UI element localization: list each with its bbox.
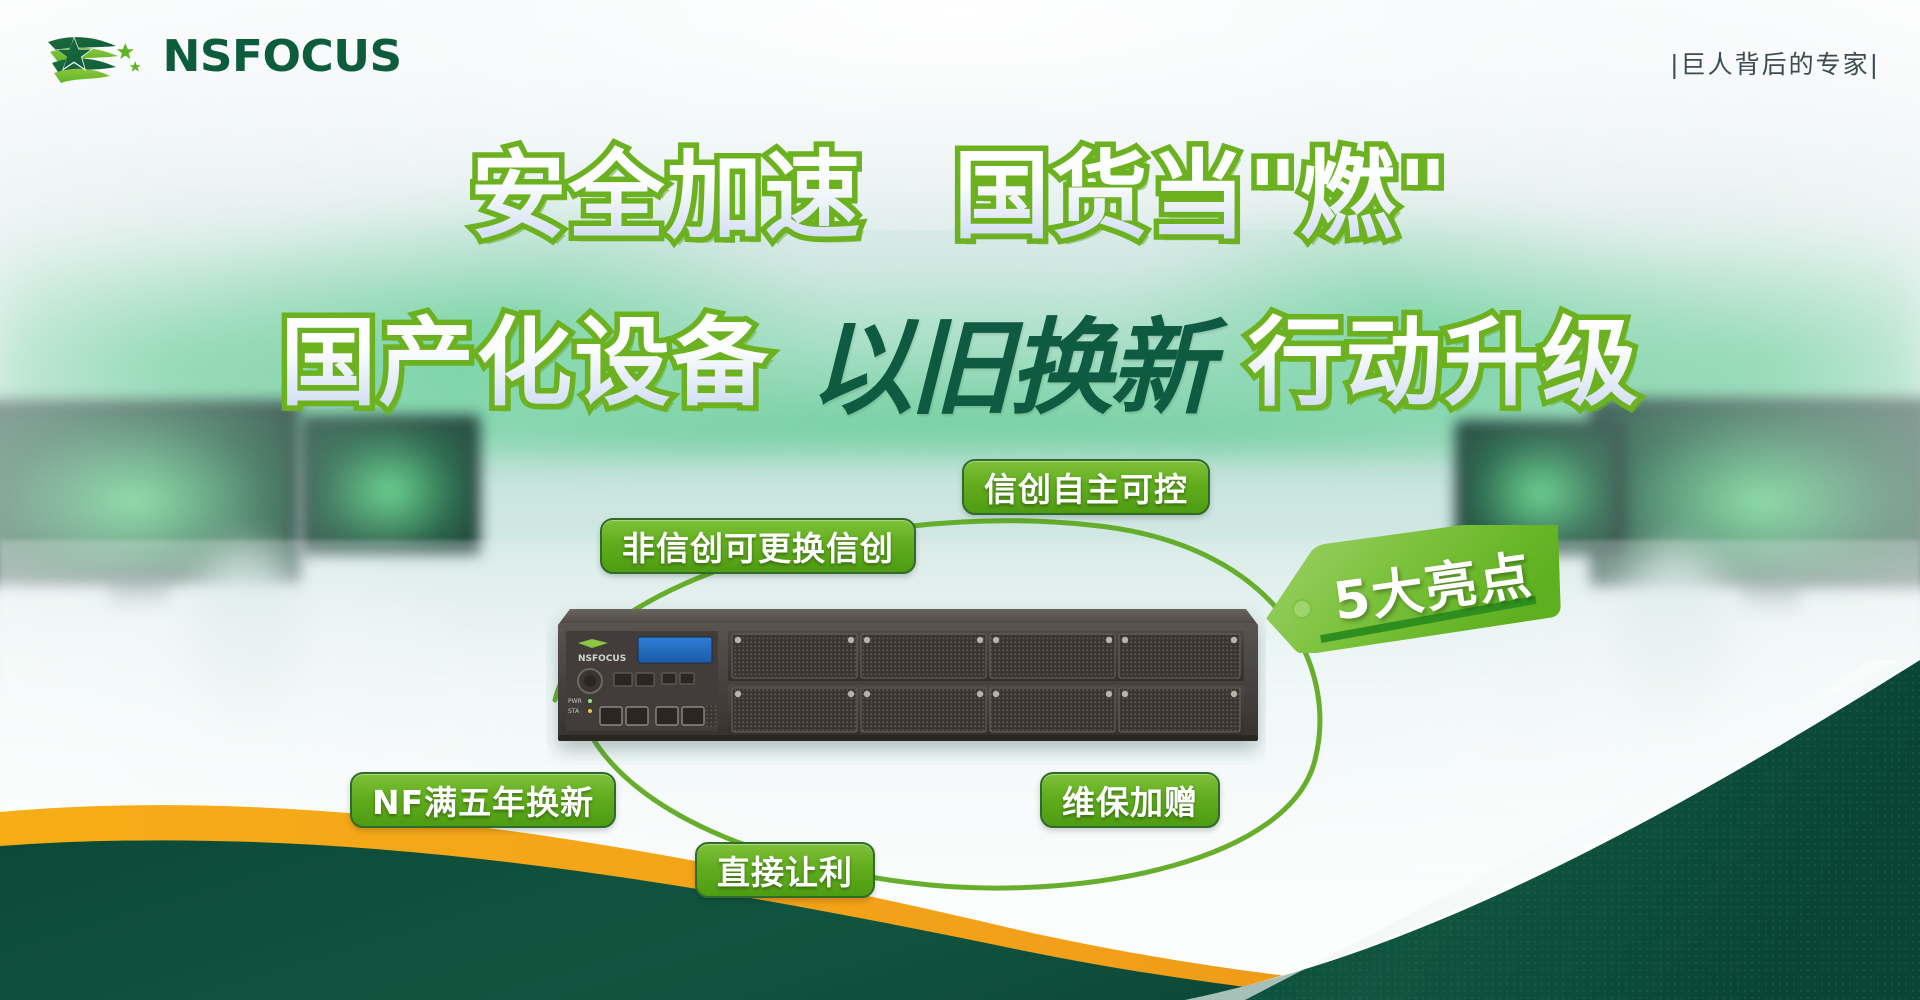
badge-nf-five-year-renew[interactable]: NF满五年换新 — [350, 772, 616, 828]
server-appliance: NSFOCUS PWR STA — [546, 585, 1266, 765]
headline-line-2: 国产化设备 国产化设备 以旧换新 行动升级 行动升级 — [0, 275, 1920, 426]
headline-line2-part1: 国产化设备 国产化设备 — [280, 285, 770, 424]
svg-text:STA: STA — [568, 708, 580, 715]
badge-label: 非信创可更换信创 — [622, 522, 894, 570]
highlight-tag-shape — [1258, 525, 1566, 653]
highlight-tag[interactable]: 5大亮点 — [1258, 525, 1566, 653]
badge-label: NF满五年换新 — [372, 776, 594, 824]
page-header: NSFOCUS |巨人背后的专家| — [0, 0, 1920, 105]
svg-text:PWR: PWR — [568, 698, 582, 705]
headline-calligraphy: 以旧换新 — [799, 306, 1219, 429]
brand-tagline: |巨人背后的专家| — [1670, 45, 1880, 81]
brand-logo-text: NSFOCUS — [163, 35, 402, 79]
badge-direct-discount[interactable]: 直接让利 — [695, 842, 875, 898]
headline-block: 安全加速 安全加速 国货当"燃" 国货当"燃" 国产化设备 国产化设备 以旧换新… — [0, 118, 1920, 426]
headline-line1-part2: 国货当"燃" 国货当"燃" — [954, 118, 1450, 257]
headline-line2-part2: 行动升级 行动升级 — [1248, 285, 1640, 424]
badge-label: 直接让利 — [717, 846, 853, 894]
badge-xinchuang-autonomous[interactable]: 信创自主可控 — [962, 459, 1210, 515]
nsfocus-flag-star-logo — [44, 30, 154, 84]
badge-label: 维保加赠 — [1062, 776, 1198, 824]
badge-label: 信创自主可控 — [984, 463, 1188, 511]
headline-line1-part1: 安全加速 安全加速 — [470, 118, 862, 257]
headline-line-1: 安全加速 安全加速 国货当"燃" 国货当"燃" — [0, 118, 1920, 257]
svg-text:NSFOCUS: NSFOCUS — [578, 654, 626, 664]
brand-logo[interactable]: NSFOCUS — [44, 30, 398, 84]
badge-non-xinchuang-upgrade[interactable]: 非信创可更换信创 — [600, 518, 916, 574]
badge-maintenance-bonus[interactable]: 维保加赠 — [1040, 772, 1220, 828]
